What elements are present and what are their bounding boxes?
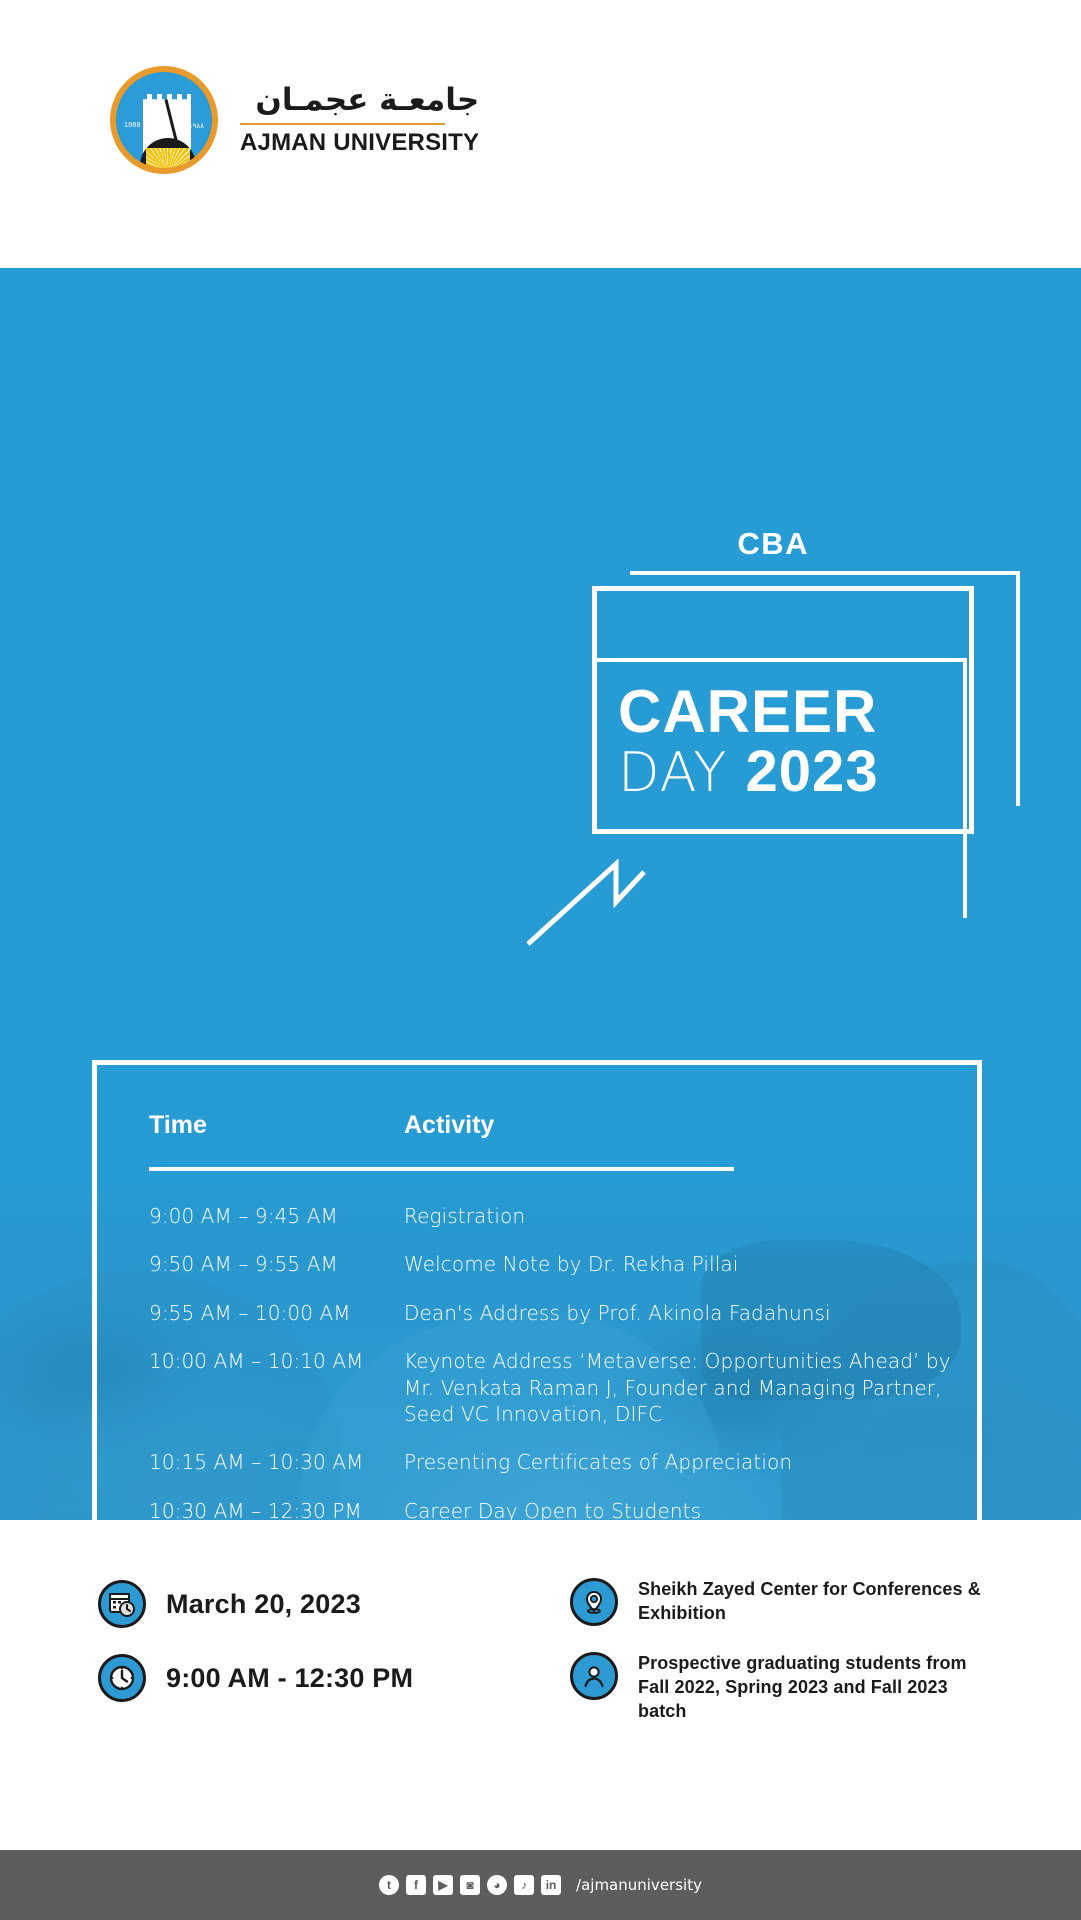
snapchat-icon[interactable]: ◕ [487, 1875, 507, 1895]
person-icon [570, 1652, 618, 1700]
event-date-text: March 20, 2023 [166, 1589, 361, 1620]
row-activity: Keynote Address ‘Metaverse: Opportunitie… [404, 1337, 977, 1438]
logo-arabic-name: جامعـة عجمـان [240, 83, 479, 117]
youtube-icon[interactable]: ▶ [433, 1875, 453, 1895]
table-row: 9:55 AM – 10:00 AM Dean's Address by Pro… [149, 1289, 977, 1337]
sun-shape [146, 148, 190, 172]
calendar-clock-icon [98, 1580, 146, 1628]
tiktok-icon[interactable]: ♪ [514, 1875, 534, 1895]
detail-date: March 20, 2023 [98, 1580, 413, 1628]
university-crest-icon: 1988 ١٩٨٨ [110, 66, 218, 174]
row-time: 10:30 AM – 12:30 PM [149, 1487, 404, 1520]
ajman-university-logo: 1988 ١٩٨٨ جامعـة عجمـان AJMAN UNIVERSITY [110, 66, 479, 174]
header-rule [149, 1167, 734, 1171]
column-header-activity: Activity [404, 1111, 977, 1156]
schedule-frame: Time Activity 9:00 AM – 9:45 AM Registra… [92, 1060, 982, 1520]
row-time: 9:00 AM – 9:45 AM [149, 1192, 404, 1240]
title-speech-bubble: CAREER DAY 2023 [592, 586, 974, 834]
details-left-column: March 20, 2023 9:00 AM - 12:30 PM [98, 1580, 413, 1728]
title-career: CAREER [618, 682, 974, 742]
speech-bubble-tail-icon [520, 828, 650, 948]
instagram-icon[interactable]: ◙ [460, 1875, 480, 1895]
college-code-label: CBA [737, 526, 809, 562]
social-handle-text: /ajmanuniversity [576, 1876, 702, 1894]
event-time-text: 9:00 AM - 12:30 PM [166, 1663, 413, 1694]
detail-time: 9:00 AM - 12:30 PM [98, 1654, 413, 1702]
event-details-section: March 20, 2023 9:00 AM - 12:30 PM [0, 1520, 1081, 1850]
column-header-time: Time [149, 1111, 404, 1156]
detail-audience: Prospective graduating students from Fal… [570, 1652, 990, 1723]
linkedin-icon[interactable]: in [541, 1875, 561, 1895]
decor-line-top-outer [630, 571, 1020, 575]
row-time: 9:50 AM – 9:55 AM [149, 1240, 404, 1288]
crest-base [130, 168, 206, 174]
logo-english-name: AJMAN UNIVERSITY [240, 129, 479, 157]
row-activity: Dean's Address by Prof. Akinola Fadahuns… [404, 1289, 977, 1337]
details-right-column: Sheikh Zayed Center for Conferences & Ex… [570, 1578, 990, 1749]
event-venue-text: Sheikh Zayed Center for Conferences & Ex… [638, 1578, 990, 1626]
facebook-icon[interactable]: f [406, 1875, 426, 1895]
title-day: DAY [618, 741, 727, 804]
table-row: 10:30 AM – 12:30 PM Career Day Open to S… [149, 1487, 977, 1520]
table-row: 9:00 AM – 9:45 AM Registration [149, 1192, 977, 1240]
schedule-header-divider [149, 1156, 977, 1192]
title-year: 2023 [746, 739, 879, 804]
row-activity: Registration [404, 1192, 977, 1240]
social-icon-group: t f ▶ ◙ ◕ ♪ in /ajmanuniversity [379, 1875, 702, 1895]
logo-divider [240, 123, 445, 125]
crest-year-right: ١٩٨٨ [189, 122, 204, 130]
row-activity: Presenting Certificates of Appreciation [404, 1438, 977, 1486]
decor-line-right-outer [1016, 571, 1020, 806]
table-row: 10:00 AM – 10:10 AM Keynote Address ‘Met… [149, 1337, 977, 1438]
row-time: 10:00 AM – 10:10 AM [149, 1337, 404, 1438]
title-day-year: DAY 2023 [618, 742, 974, 803]
map-pin-icon [570, 1578, 618, 1626]
schedule-header-row: Time Activity [149, 1111, 977, 1156]
poster-header: 1988 ١٩٨٨ جامعـة عجمـان AJMAN UNIVERSITY [0, 0, 1081, 268]
row-activity: Welcome Note by Dr. Rekha Pillai [404, 1240, 977, 1288]
table-row: 9:50 AM – 9:55 AM Welcome Note by Dr. Re… [149, 1240, 977, 1288]
event-audience-text: Prospective graduating students from Fal… [638, 1652, 990, 1723]
title-block: CAREER DAY 2023 [592, 682, 974, 803]
row-time: 9:55 AM – 10:00 AM [149, 1289, 404, 1337]
poster-page: 1988 ١٩٨٨ جامعـة عجمـان AJMAN UNIVERSITY… [0, 0, 1081, 1920]
banner-section: CBA CAREER DAY 2023 Time Activity [0, 268, 1081, 1520]
twitter-icon[interactable]: t [379, 1875, 399, 1895]
clock-icon [98, 1654, 146, 1702]
row-time: 10:15 AM – 10:30 AM [149, 1438, 404, 1486]
table-row: 10:15 AM – 10:30 AM Presenting Certifica… [149, 1438, 977, 1486]
crest-year-left: 1988 [124, 122, 141, 129]
social-footer-bar: t f ▶ ◙ ◕ ♪ in /ajmanuniversity [0, 1850, 1081, 1920]
schedule-table: Time Activity 9:00 AM – 9:45 AM Registra… [149, 1111, 977, 1520]
detail-venue: Sheikh Zayed Center for Conferences & Ex… [570, 1578, 990, 1626]
logo-wordmark: جامعـة عجمـان AJMAN UNIVERSITY [240, 83, 479, 156]
row-activity: Career Day Open to Students [404, 1487, 977, 1520]
